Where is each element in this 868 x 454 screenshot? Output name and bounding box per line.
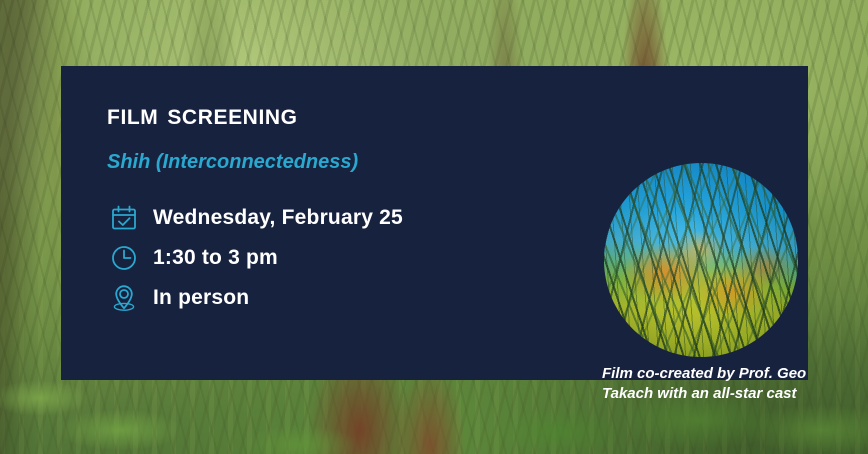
film-title: Shih (Interconnectedness) (107, 152, 403, 172)
photo-caption: Film co-created by Prof. Geo Takach with… (602, 364, 832, 405)
detail-text-location: In person (153, 286, 249, 310)
detail-row-date: Wednesday, February 25 (107, 198, 403, 238)
event-info-card: Film screening Shih (Interconnectedness)… (61, 66, 808, 380)
calendar-check-icon (107, 201, 141, 235)
detail-row-time: 1:30 to 3 pm (107, 238, 403, 278)
event-details-list: Wednesday, February 25 1:30 to 3 pm (107, 198, 403, 318)
event-poster: Film screening Shih (Interconnectedness)… (0, 0, 868, 454)
detail-text-date: Wednesday, February 25 (153, 206, 403, 230)
photo-vignette (604, 163, 798, 357)
clock-icon (107, 241, 141, 275)
circular-film-still (604, 163, 798, 357)
detail-row-location: In person (107, 278, 403, 318)
page-title: Film screening (107, 100, 403, 130)
card-content: Film screening Shih (Interconnectedness)… (107, 100, 403, 318)
location-pin-icon (107, 281, 141, 315)
detail-text-time: 1:30 to 3 pm (153, 246, 278, 270)
